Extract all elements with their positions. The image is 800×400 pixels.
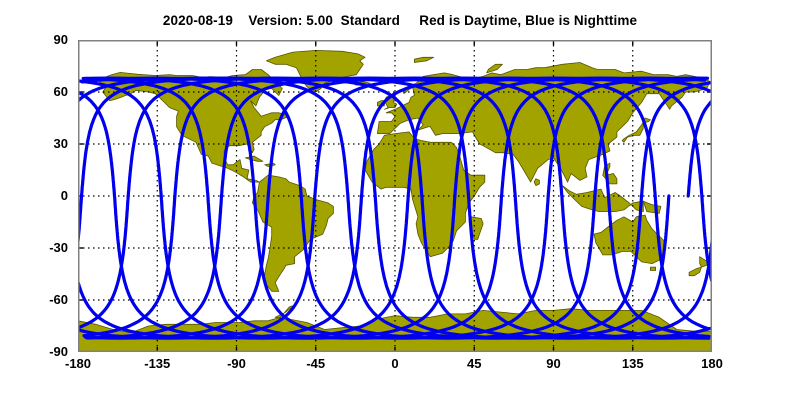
x-tick-label: 45 <box>444 356 504 371</box>
y-tick-label: 60 <box>22 84 68 99</box>
y-tick-label: 90 <box>22 32 68 47</box>
y-tick-label: 30 <box>22 136 68 151</box>
x-tick-label: -180 <box>48 356 108 371</box>
x-tick-label: -90 <box>207 356 267 371</box>
x-tick-label: 135 <box>603 356 663 371</box>
y-tick-label: 0 <box>22 188 68 203</box>
x-tick-label: 0 <box>365 356 425 371</box>
figure-title: 2020-08-19 Version: 5.00 Standard Red is… <box>0 13 800 28</box>
y-tick-label: -60 <box>22 292 68 307</box>
map-plot-svg <box>78 40 712 352</box>
y-tick-label: -30 <box>22 240 68 255</box>
x-tick-label: -135 <box>127 356 187 371</box>
landmass-tasmania <box>650 267 655 270</box>
ground-track-figure: 2020-08-19 Version: 5.00 Standard Red is… <box>0 0 800 400</box>
x-tick-label: -45 <box>286 356 346 371</box>
plot-area <box>78 40 712 352</box>
x-tick-label: 90 <box>524 356 584 371</box>
x-tick-label: 180 <box>682 356 742 371</box>
